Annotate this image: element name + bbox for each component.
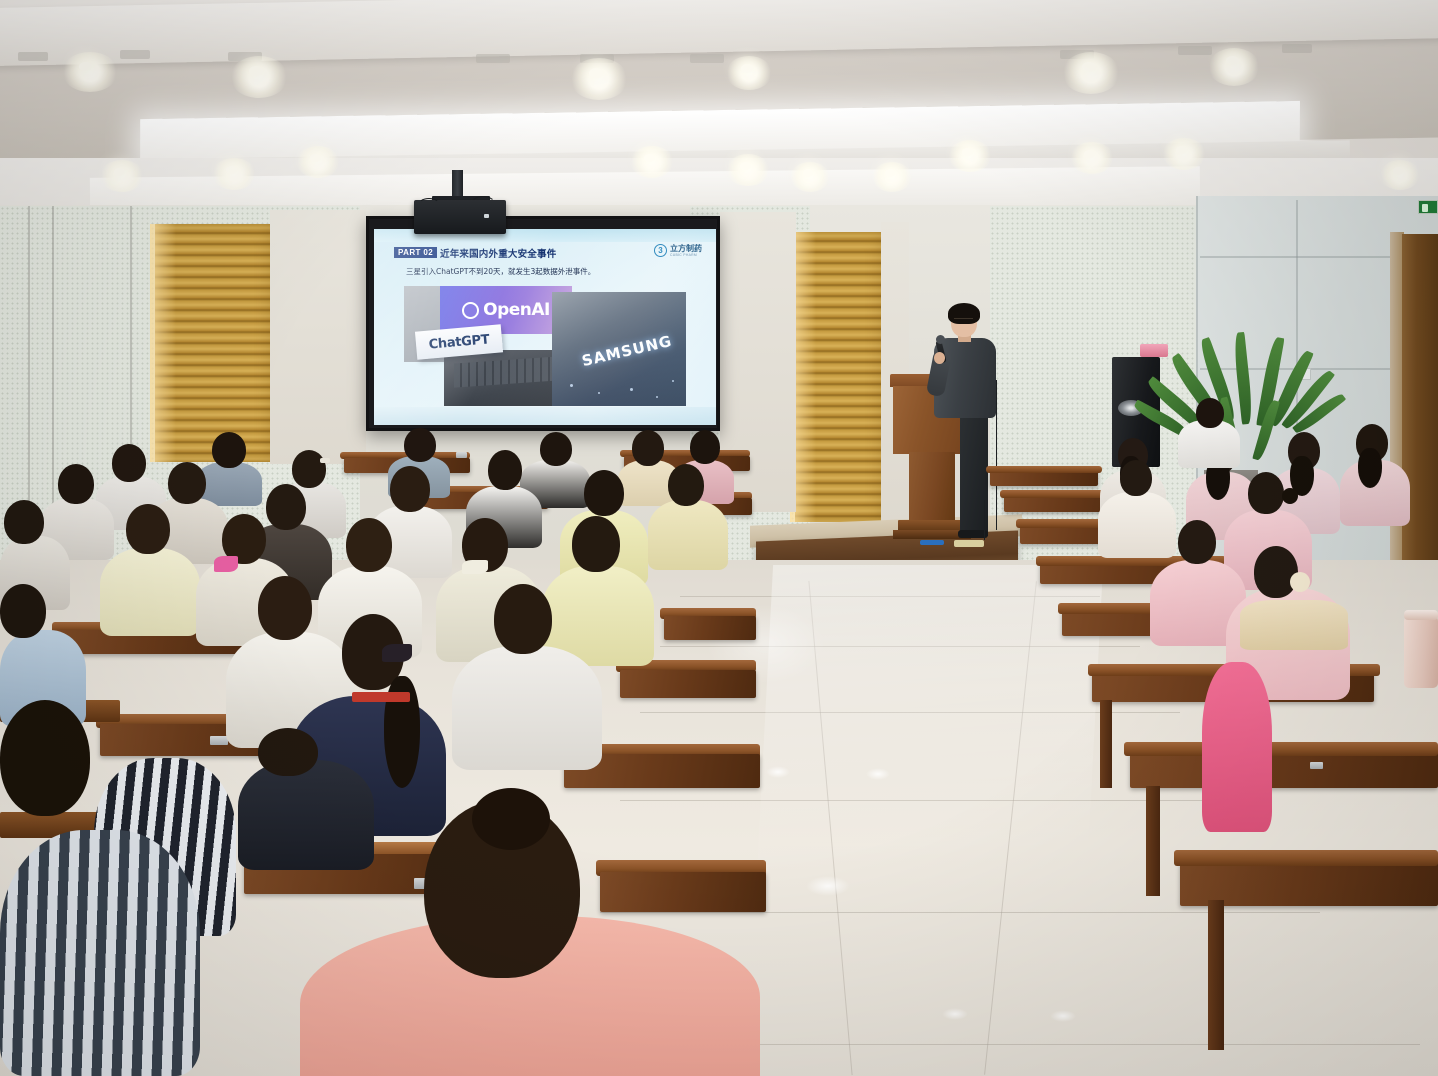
samsung-photo: SAMSUNG bbox=[552, 292, 686, 406]
microphone-head bbox=[936, 335, 945, 344]
ceiling-recess bbox=[120, 50, 150, 59]
bench-backrest bbox=[1174, 850, 1438, 866]
bench-leg bbox=[1146, 786, 1160, 896]
bench-leg bbox=[1100, 700, 1112, 788]
slide-bottom-band bbox=[374, 407, 716, 425]
spotlight-glow bbox=[212, 158, 256, 190]
slide-part-badge: PART 02 bbox=[394, 247, 437, 258]
bench-row[interactable] bbox=[600, 872, 766, 912]
ceiling-recess bbox=[1178, 46, 1212, 55]
spotlight-glow bbox=[790, 162, 830, 192]
spotlight-glow bbox=[570, 58, 628, 100]
spotlight-glow bbox=[1380, 160, 1420, 190]
thermos-lid[interactable] bbox=[1404, 610, 1438, 620]
pink-object-on-speaker bbox=[1140, 344, 1168, 357]
sparkle bbox=[598, 392, 600, 394]
spotlight bbox=[1084, 150, 1095, 158]
logo-mark-icon: 3 bbox=[654, 244, 667, 257]
spotlight bbox=[589, 68, 603, 78]
projector-indicator bbox=[484, 214, 489, 218]
light-reflection bbox=[866, 768, 890, 780]
spotlight-glow bbox=[230, 56, 288, 98]
logo-company-name: 立方制药 bbox=[670, 245, 702, 253]
spotlight bbox=[1176, 146, 1187, 154]
thermos-cup[interactable] bbox=[1404, 616, 1438, 688]
spotlight bbox=[803, 169, 813, 177]
sparkle bbox=[570, 384, 573, 387]
spotlight bbox=[79, 62, 92, 71]
bench-row[interactable] bbox=[620, 670, 756, 698]
tile-seam bbox=[640, 712, 1180, 713]
spotlight-glow bbox=[1208, 48, 1260, 86]
bench-nameplate bbox=[210, 736, 228, 745]
bench-row[interactable] bbox=[664, 616, 756, 640]
spotlight bbox=[740, 162, 751, 170]
spotlight-glow bbox=[630, 146, 674, 178]
sparkle bbox=[630, 388, 633, 391]
spotlight bbox=[1082, 62, 1096, 72]
spotlight-glow bbox=[948, 140, 992, 172]
tile-seam bbox=[680, 596, 1100, 597]
spotlight-glow bbox=[1062, 52, 1120, 94]
spotlight-glow bbox=[872, 162, 912, 192]
openai-label: OpenAI bbox=[483, 300, 550, 320]
spotlight-glow bbox=[296, 146, 340, 178]
bench-nameplate bbox=[1310, 762, 1323, 769]
ceiling-recess bbox=[476, 54, 510, 63]
logo-company-subtext: CUBIC PHARM bbox=[670, 253, 702, 257]
bench-nameplate bbox=[456, 452, 467, 458]
projection-screen: PART 02 近年来国内外重大安全事件 三星引入ChatGPT不到20天，就发… bbox=[366, 216, 720, 431]
stage-object bbox=[954, 540, 984, 547]
spotlight bbox=[249, 66, 263, 76]
slat-wall-glow bbox=[150, 224, 176, 462]
ceiling-recess bbox=[690, 54, 724, 63]
wall-seam bbox=[28, 206, 30, 506]
slide-image-collage: OpenAI ChatGPT SAMSUNG bbox=[404, 286, 686, 406]
spotlight bbox=[226, 166, 237, 174]
spotlight bbox=[885, 169, 895, 177]
ceiling-recess bbox=[18, 52, 48, 61]
light-reflection bbox=[766, 766, 790, 778]
spotlight-glow bbox=[726, 154, 770, 186]
spotlight bbox=[962, 148, 973, 156]
bench-backrest bbox=[1124, 742, 1438, 756]
podium-column bbox=[909, 452, 955, 522]
exit-sign-icon bbox=[1418, 200, 1438, 214]
company-logo: 3 立方制药 CUBIC PHARM bbox=[654, 244, 702, 257]
wall-seam bbox=[52, 206, 54, 506]
sparkle bbox=[656, 396, 658, 398]
light-reflection bbox=[806, 876, 850, 896]
chatgpt-label: ChatGPT bbox=[428, 332, 490, 352]
presenter-hand bbox=[934, 352, 945, 364]
ceiling-recess bbox=[1282, 44, 1312, 53]
wall-panel bbox=[270, 210, 366, 464]
spotlight-glow bbox=[1070, 142, 1114, 174]
spotlight bbox=[310, 154, 321, 162]
glasses-icon bbox=[954, 318, 973, 322]
sparkle bbox=[672, 380, 674, 382]
spotlight-glow bbox=[62, 52, 118, 92]
projector-cable bbox=[418, 198, 440, 212]
spotlight bbox=[741, 64, 753, 73]
slide-subtitle: 三星引入ChatGPT不到20天，就发生3起数据外泄事件。 bbox=[406, 266, 595, 277]
slide-title: 近年来国内外重大安全事件 bbox=[440, 246, 556, 260]
spotlight bbox=[114, 168, 125, 176]
spotlight-glow bbox=[726, 56, 772, 90]
bench-leg bbox=[1208, 900, 1224, 1050]
slide-surface: PART 02 近年来国内外重大安全事件 三星引入ChatGPT不到20天，就发… bbox=[374, 229, 716, 425]
openai-logo-icon bbox=[462, 302, 479, 319]
spotlight bbox=[1226, 56, 1239, 65]
light-reflection bbox=[942, 1008, 968, 1020]
light-reflection bbox=[1050, 1010, 1076, 1022]
lecture-hall-photo: PART 02 近年来国内外重大安全事件 三星引入ChatGPT不到20天，就发… bbox=[0, 0, 1438, 1076]
spotlight-glow bbox=[1162, 138, 1206, 170]
spotlight bbox=[644, 154, 655, 162]
projector-cable bbox=[470, 196, 496, 214]
bench-row[interactable] bbox=[1130, 752, 1438, 788]
bench-backrest bbox=[986, 466, 1102, 473]
spotlight-glow bbox=[100, 160, 144, 192]
stage-object bbox=[920, 540, 944, 545]
spotlight bbox=[1393, 167, 1403, 175]
